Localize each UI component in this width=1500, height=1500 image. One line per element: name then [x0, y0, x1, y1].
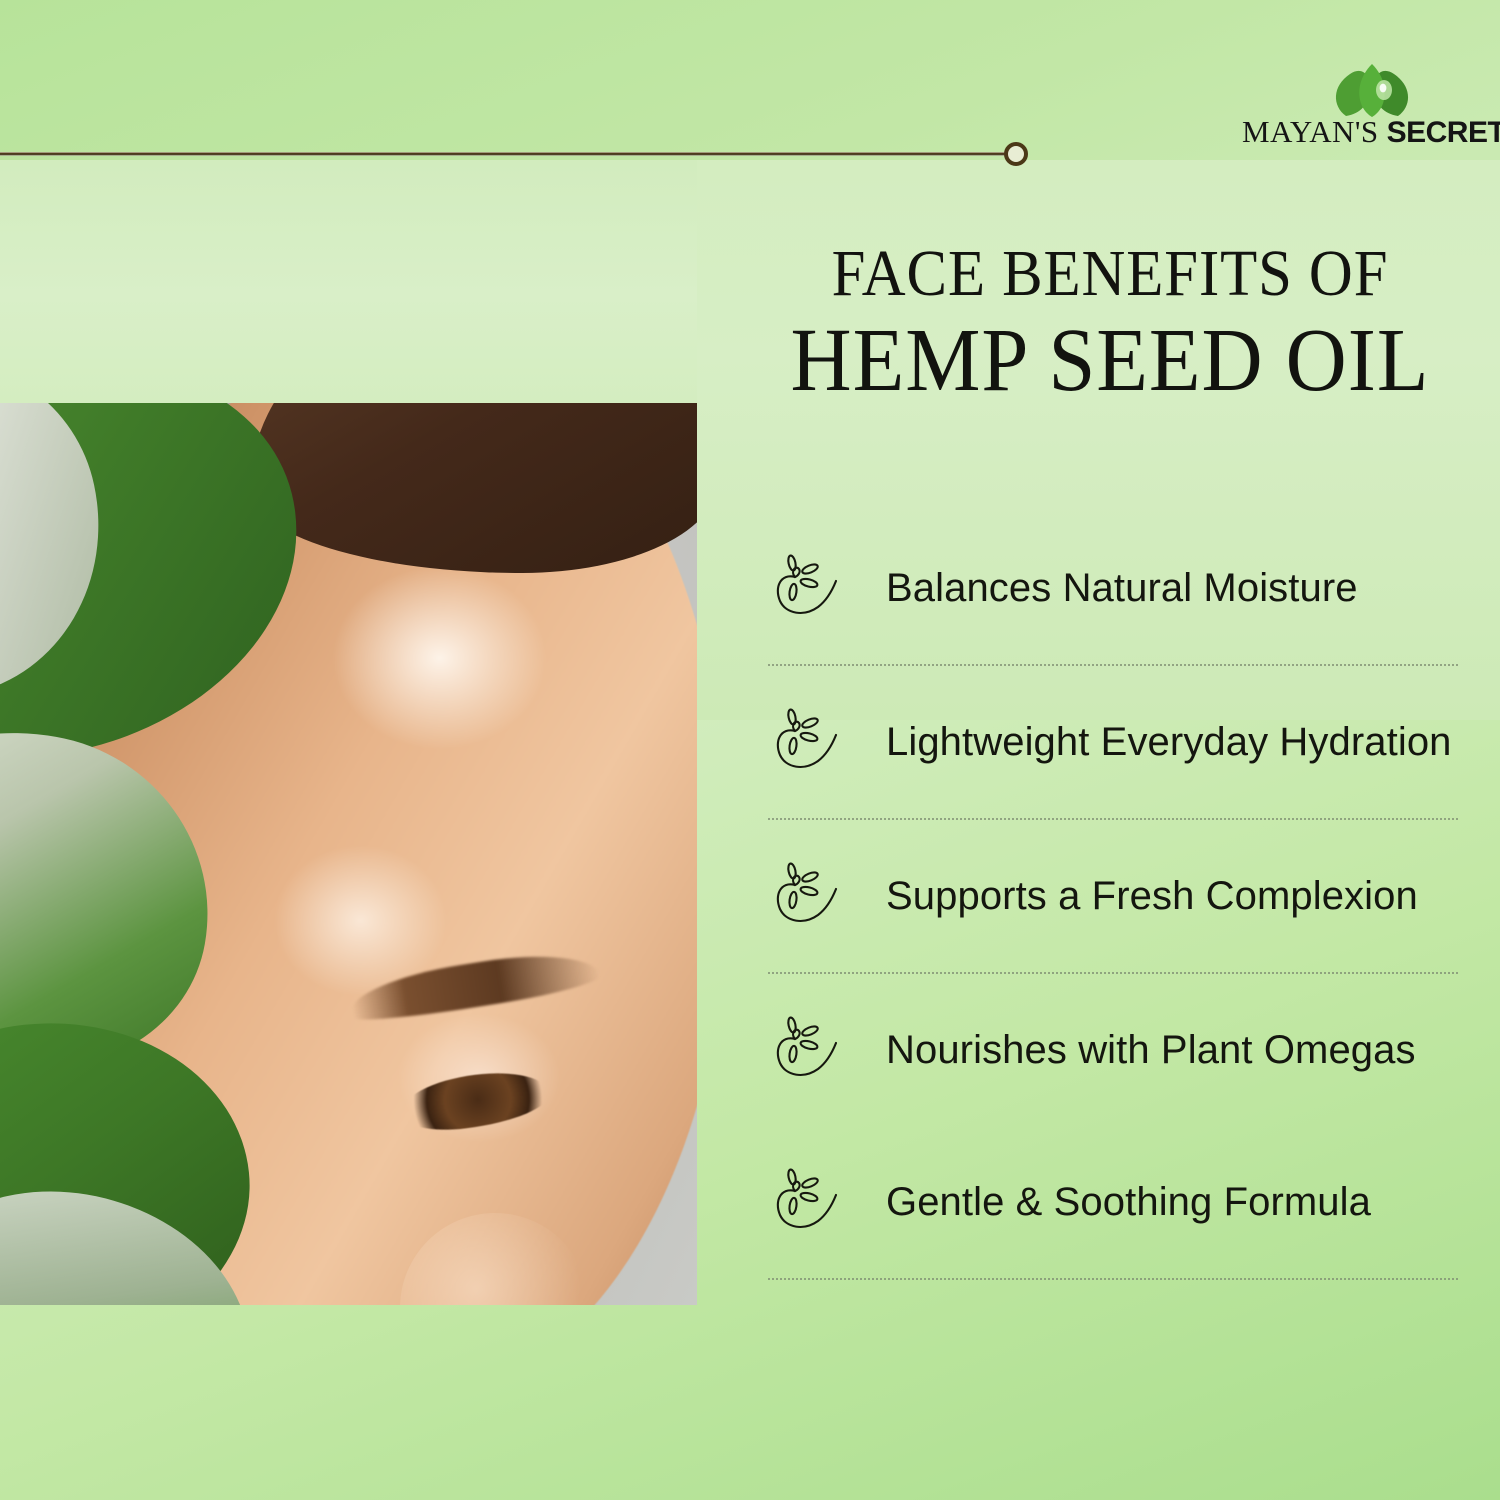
benefit-label: Lightweight Everyday Hydration: [886, 713, 1458, 771]
sprout-flourish-icon: [768, 859, 842, 933]
benefit-label: Nourishes with Plant Omegas: [886, 1021, 1458, 1079]
benefits-list: Balances Natural Moisture Lightweight Ev…: [768, 512, 1458, 1280]
infographic-canvas: MAYAN'S SECRET FACE BENEFITS OF HEMP SEE…: [0, 0, 1500, 1500]
woman-face-with-leaves-photo: [0, 403, 697, 1305]
brand-wordmark: MAYAN'S SECRET: [1242, 114, 1488, 150]
list-item: Supports a Fresh Complexion: [768, 820, 1458, 972]
brand-name-part2: SECRET: [1387, 116, 1500, 149]
list-item: Balances Natural Moisture: [768, 512, 1458, 664]
sprout-flourish-icon: [768, 1165, 842, 1239]
sprout-flourish-icon: [768, 1013, 842, 1087]
brand-logo[interactable]: MAYAN'S SECRET: [1242, 62, 1488, 152]
page-title-line1: FACE BENEFITS OF: [770, 236, 1451, 312]
leaf-droplet-icon: [1326, 62, 1418, 118]
benefit-label: Balances Natural Moisture: [886, 559, 1458, 617]
list-item: Gentle & Soothing Formula: [768, 1126, 1458, 1278]
list-item: Nourishes with Plant Omegas: [768, 974, 1458, 1126]
list-item: Lightweight Everyday Hydration: [768, 666, 1458, 818]
benefit-label: Gentle & Soothing Formula: [886, 1173, 1458, 1231]
brand-name-part1: MAYAN'S: [1242, 114, 1378, 149]
page-title-line2: HEMP SEED OIL: [762, 312, 1458, 410]
benefit-label: Supports a Fresh Complexion: [886, 867, 1458, 925]
circle-dot-icon: [1004, 142, 1028, 166]
list-divider: [768, 1278, 1458, 1280]
page-title: FACE BENEFITS OF HEMP SEED OIL: [740, 236, 1480, 410]
decorative-rule: [0, 152, 1018, 156]
sprout-flourish-icon: [768, 551, 842, 625]
sprout-flourish-icon: [768, 705, 842, 779]
